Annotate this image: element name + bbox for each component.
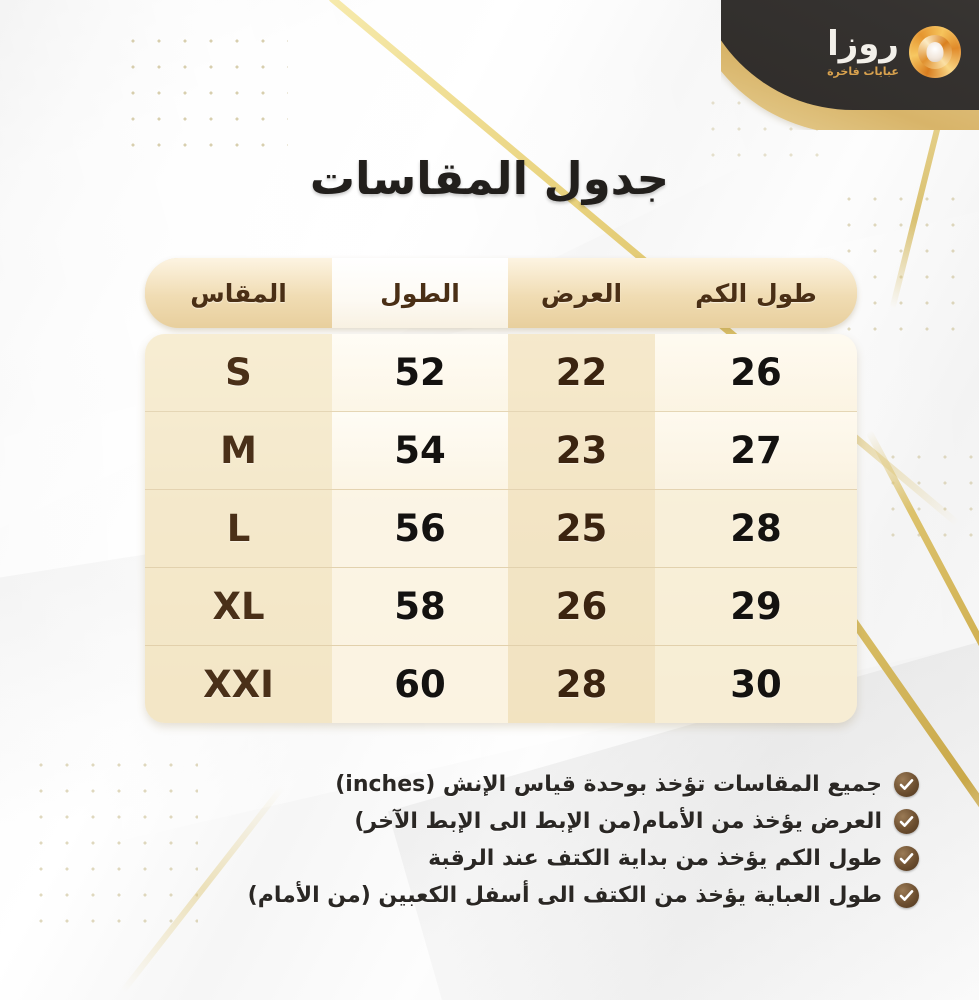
table-row: 29 26 58 XL — [145, 568, 857, 646]
note-item: طول العباية يؤخذ من الكتف الى أسفل الكعب… — [59, 883, 919, 908]
cell-size: S — [145, 334, 332, 411]
column-header-sleeve-length: طول الكم — [655, 258, 857, 328]
cell-size: XL — [145, 568, 332, 645]
cell-length: 56 — [332, 490, 508, 567]
brand-text-block: روزا عبايات فاخرة — [827, 27, 899, 77]
cell-sleeve-length: 30 — [655, 646, 857, 723]
check-circle-icon — [894, 883, 919, 908]
cell-size: XXI — [145, 646, 332, 723]
notes-list: جميع المقاسات تؤخذ بوحدة قياس الإنش (inc… — [59, 772, 919, 908]
table-row: 30 28 60 XXI — [145, 646, 857, 723]
rose-flower-icon — [909, 26, 961, 78]
brand-header-badge: روزا عبايات فاخرة — [721, 0, 979, 130]
cell-sleeve-length: 29 — [655, 568, 857, 645]
cell-length: 52 — [332, 334, 508, 411]
cell-length: 60 — [332, 646, 508, 723]
cell-width: 22 — [508, 334, 655, 411]
cell-width: 28 — [508, 646, 655, 723]
cell-size: L — [145, 490, 332, 567]
brand-logo: روزا عبايات فاخرة — [827, 26, 961, 78]
column-header-width: العرض — [508, 258, 655, 328]
table-body: 26 22 52 S 27 23 54 M 28 25 56 L 29 26 5… — [145, 334, 857, 723]
table-row: 27 23 54 M — [145, 412, 857, 490]
note-item: العرض يؤخذ من الأمام(من الإبط الى الإبط … — [59, 809, 919, 834]
size-chart-table: طول الكم العرض الطول المقاس 26 22 52 S 2… — [145, 258, 857, 723]
cell-width: 23 — [508, 412, 655, 489]
cell-width: 26 — [508, 568, 655, 645]
column-header-size: المقاس — [145, 258, 332, 328]
note-text: طول الكم يؤخذ من بداية الكتف عند الرقبة — [428, 846, 882, 871]
check-circle-icon — [894, 809, 919, 834]
cell-size: M — [145, 412, 332, 489]
table-row: 26 22 52 S — [145, 334, 857, 412]
brand-name: روزا — [827, 27, 899, 61]
note-text: طول العباية يؤخذ من الكتف الى أسفل الكعب… — [248, 883, 882, 908]
cell-length: 58 — [332, 568, 508, 645]
column-header-length: الطول — [332, 258, 508, 328]
check-circle-icon — [894, 846, 919, 871]
cell-length: 54 — [332, 412, 508, 489]
note-text: جميع المقاسات تؤخذ بوحدة قياس الإنش (inc… — [335, 772, 882, 797]
cell-sleeve-length: 28 — [655, 490, 857, 567]
note-item: جميع المقاسات تؤخذ بوحدة قياس الإنش (inc… — [59, 772, 919, 797]
cell-width: 25 — [508, 490, 655, 567]
cell-sleeve-length: 26 — [655, 334, 857, 411]
brand-tagline: عبايات فاخرة — [827, 66, 899, 77]
page-title: جدول المقاسات — [0, 152, 979, 205]
table-row: 28 25 56 L — [145, 490, 857, 568]
note-text: العرض يؤخذ من الأمام(من الإبط الى الإبط … — [354, 809, 882, 834]
note-item: طول الكم يؤخذ من بداية الكتف عند الرقبة — [59, 846, 919, 871]
table-header-row: طول الكم العرض الطول المقاس — [145, 258, 857, 328]
cell-sleeve-length: 27 — [655, 412, 857, 489]
check-circle-icon — [894, 772, 919, 797]
